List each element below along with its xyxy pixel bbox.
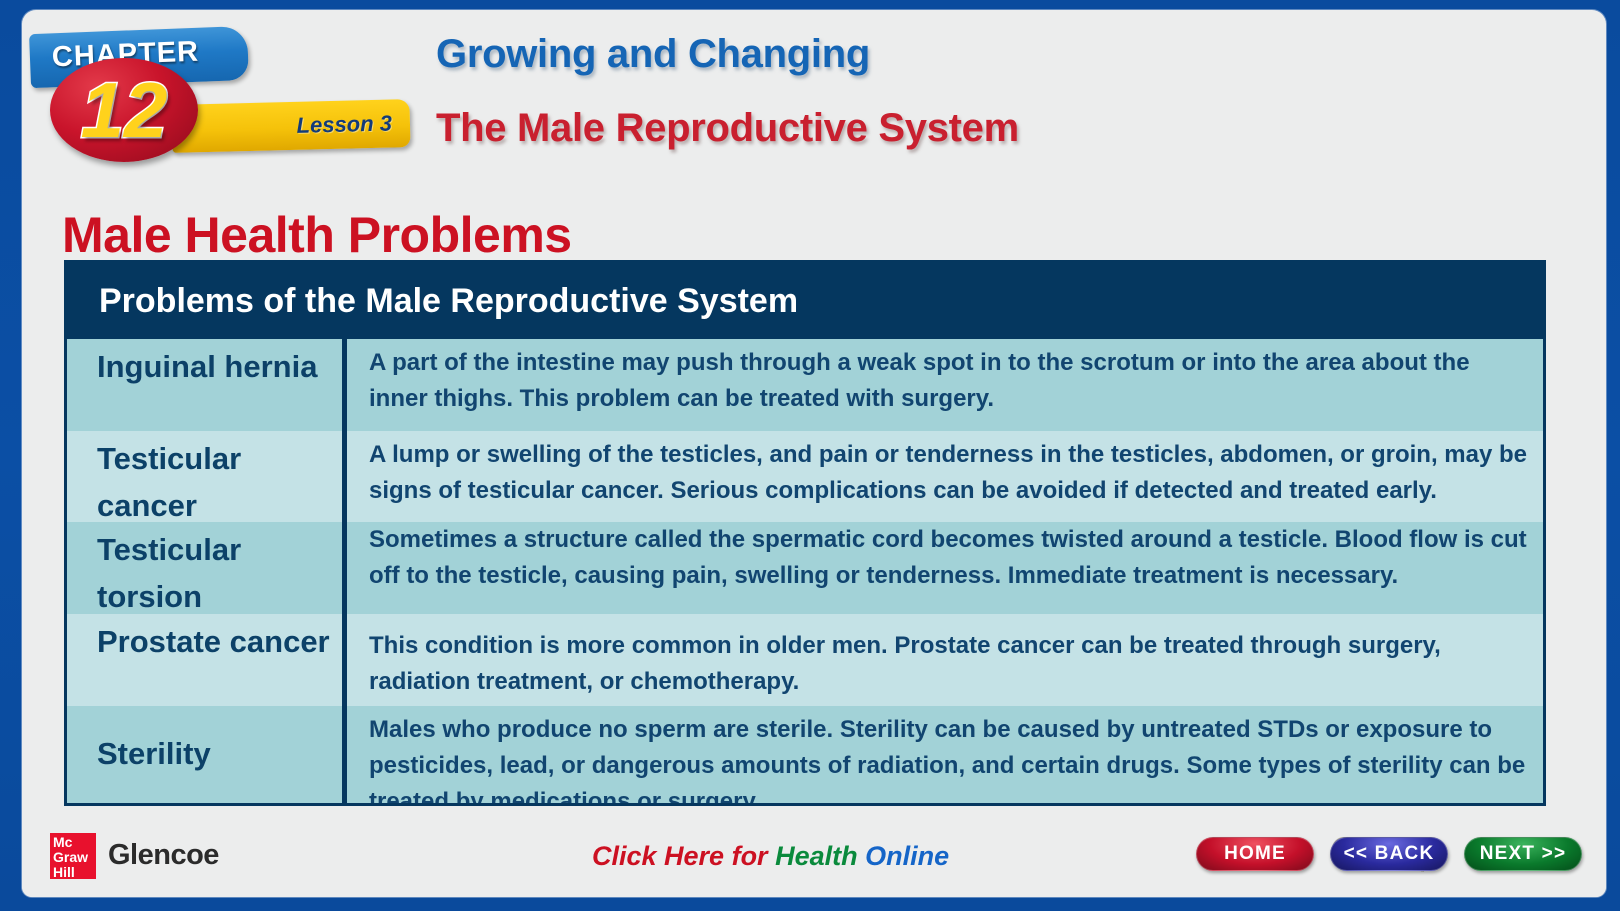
table-caption-bar: Problems of the Male Reproductive System — [67, 263, 1543, 339]
lesson-label: Lesson 3 — [296, 111, 392, 139]
table-cell-description: A part of the intestine may push through… — [347, 339, 1543, 431]
table-cell-description: A lump or swelling of the testicles, and… — [347, 431, 1543, 522]
slide-frame: CHAPTER Lesson 3 12 Growing and Changing… — [0, 0, 1620, 911]
page-title: Male Health Problems — [62, 206, 572, 264]
table-cell-term: Prostate cancer — [67, 614, 347, 706]
table-cell-description: Males who produce no sperm are sterile. … — [347, 706, 1543, 803]
publisher-name: Glencoe — [108, 839, 219, 872]
table-cell-term: Sterility — [67, 706, 347, 803]
table-row: Prostate cancer This condition is more c… — [67, 614, 1543, 706]
lesson-banner: Lesson 3 — [171, 99, 410, 153]
chapter-number: 12 — [50, 62, 198, 158]
slide-header: CHAPTER Lesson 3 12 Growing and Changing… — [22, 10, 1606, 172]
table-caption: Problems of the Male Reproductive System — [67, 282, 798, 321]
logo-line-3: Hill — [53, 865, 96, 880]
home-button[interactable]: HOME — [1196, 837, 1314, 871]
logo-line-1: Mc — [53, 835, 96, 850]
logo-line-2: Graw — [53, 850, 96, 865]
table-row: Sterility Males who produce no sperm are… — [67, 706, 1543, 803]
link-text-part3: Online — [865, 841, 949, 871]
health-online-link[interactable]: Click Here for Health Online — [592, 841, 949, 872]
table-row: Testicular torsion Sometimes a structure… — [67, 522, 1543, 614]
table-cell-description: Sometimes a structure called the spermat… — [347, 522, 1543, 614]
unit-title: Growing and Changing — [436, 32, 870, 77]
link-text-part2: Health — [775, 841, 865, 871]
lesson-title: The Male Reproductive System — [436, 106, 1019, 151]
navigation-buttons: HOME << BACK NEXT >> — [1196, 837, 1582, 871]
back-button[interactable]: << BACK — [1330, 837, 1448, 871]
problems-table: Problems of the Male Reproductive System… — [64, 260, 1546, 806]
table-row: Testicular cancer A lump or swelling of … — [67, 431, 1543, 522]
table-cell-term: Testicular cancer — [67, 431, 347, 522]
table-cell-term: Testicular torsion — [67, 522, 347, 614]
slide-footer: Mc Graw Hill Glencoe Click Here for Heal… — [22, 819, 1606, 897]
table-cell-term: Inguinal hernia — [67, 339, 347, 431]
mcgraw-hill-logo: Mc Graw Hill — [50, 833, 96, 879]
table-row: Inguinal hernia A part of the intestine … — [67, 339, 1543, 431]
link-text-part1: Click Here for — [592, 841, 775, 871]
next-button[interactable]: NEXT >> — [1464, 837, 1582, 871]
slide-page: CHAPTER Lesson 3 12 Growing and Changing… — [22, 10, 1606, 897]
table-cell-description: This condition is more common in older m… — [347, 614, 1543, 706]
table-body: Inguinal hernia A part of the intestine … — [67, 339, 1543, 803]
chapter-number-badge: 12 — [50, 58, 198, 162]
